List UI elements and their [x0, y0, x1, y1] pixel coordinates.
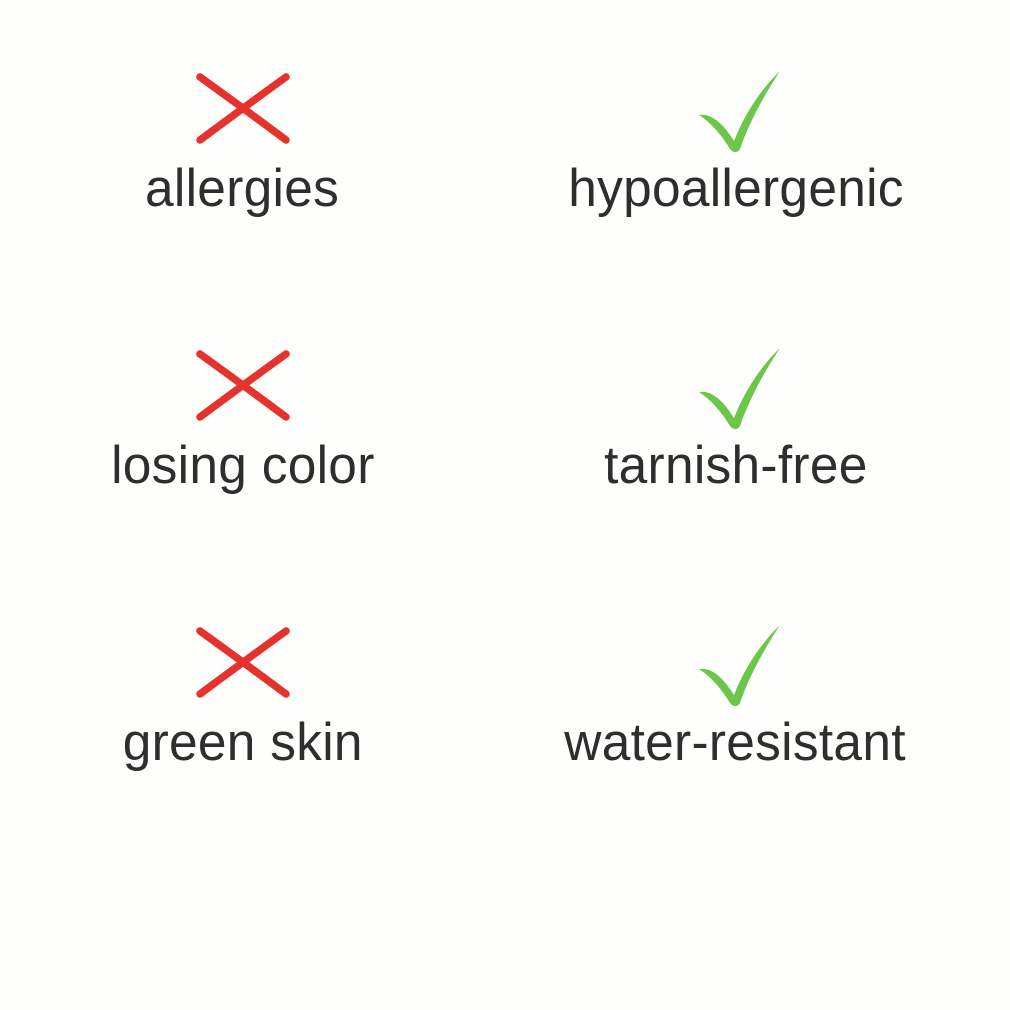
bottom-blank-area: [0, 830, 1010, 1010]
comparison-item-con-2: losing color: [0, 277, 505, 554]
comparison-item-label: allergies: [145, 162, 339, 215]
comparison-item-label: losing color: [111, 439, 375, 492]
comparison-item-con-1: allergies: [0, 0, 505, 277]
comparison-item-label: water-resistant: [565, 716, 907, 769]
comparison-item-con-3: green skin: [0, 553, 505, 830]
cross-icon: [188, 615, 298, 710]
check-icon: [681, 61, 791, 156]
comparison-item-label: green skin: [122, 716, 362, 769]
check-icon: [681, 615, 791, 710]
check-icon: [681, 338, 791, 433]
comparison-item-pro-3: water-resistant: [505, 553, 1010, 830]
comparison-item-label: tarnish-free: [604, 439, 868, 492]
comparison-item-pro-1: hypoallergenic: [505, 0, 1010, 277]
comparison-grid: allergies hypoallergenic losing color: [0, 0, 1010, 830]
comparison-board: allergies hypoallergenic losing color: [0, 0, 1010, 1010]
cross-icon: [188, 61, 298, 156]
comparison-item-label: hypoallergenic: [568, 162, 904, 215]
cross-icon: [188, 338, 298, 433]
comparison-item-pro-2: tarnish-free: [505, 277, 1010, 554]
